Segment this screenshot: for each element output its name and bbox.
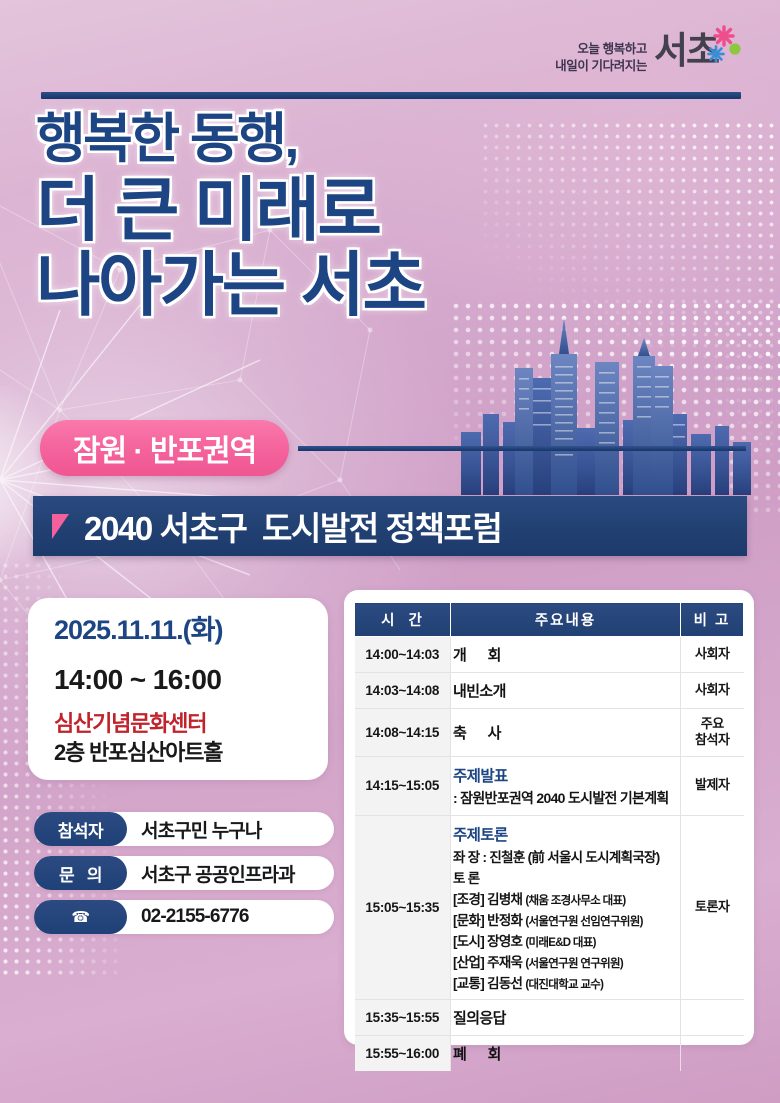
phone-icon: ☎ [34, 900, 127, 934]
row-content: 축 사 [451, 709, 681, 757]
table-row: 15:05~15:35 주제토론 좌 장 : 진철훈 (前 서울시 도시계획국장… [355, 815, 744, 999]
row-content-title: 주제발표 [453, 764, 678, 786]
panelist-name: 장영호 [487, 934, 522, 949]
contact-row-attendees: 참석자 서초구민 누구나 [34, 812, 334, 846]
schedule-card: 시 간 주요내용 비 고 14:00~14:03 개 회 사회자 14:03~1… [344, 590, 754, 1045]
logo-slogan-line1: 오늘 행복하고 [555, 41, 647, 58]
panelist-item: [도시] 장영호 (미래E&D 대표) [453, 930, 678, 950]
panelist-field: [산업] [453, 955, 484, 970]
row-content-text: 질의응답 [453, 1010, 506, 1027]
contact-row-inquiry: 문 의 서초구 공공인프라과 [34, 856, 334, 890]
table-row: 15:35~15:55 질의응답 [355, 999, 744, 1035]
seocho-logo: 오늘 행복하고 내일이 기다려지는 서초 [555, 26, 744, 78]
table-row: 14:08~14:15 축 사 주요 참석자 [355, 709, 744, 757]
logo-wordmark: 서초 [654, 26, 744, 76]
panelist-name: 김동선 [487, 976, 522, 991]
row-note: 주요 참석자 [681, 709, 744, 757]
row-content: 폐 회 [451, 1035, 681, 1071]
row-content-debate-label: 토 론 [453, 867, 678, 887]
poster-root: 오늘 행복하고 내일이 기다려지는 서초 행복한 [0, 0, 780, 1103]
col-header-content: 주요내용 [451, 603, 681, 637]
triangle-marker-icon [52, 514, 69, 539]
region-badge-label: 잠원 · 반포권역 [73, 426, 256, 470]
contact-value-phone[interactable]: 02-2155-6776 [127, 906, 249, 928]
row-time: 15:35~15:55 [355, 999, 451, 1035]
panelist-field: [조경] [453, 892, 484, 907]
halftone-dots-skyline [450, 300, 780, 520]
panelist-name: 주재욱 [487, 955, 522, 970]
skyline-svg [455, 310, 765, 495]
event-hall: 2층 반포심산아트홀 [54, 740, 328, 765]
panelist-affiliation: (서울연구원 연구위원) [525, 958, 623, 970]
panelist-field: [교통] [453, 976, 484, 991]
row-content-text: 폐 회 [453, 1046, 501, 1063]
table-row: 14:15~15:05 주제발표 : 잠원반포권역 2040 도시발전 기본계획… [355, 756, 744, 815]
row-time: 15:05~15:35 [355, 815, 451, 999]
event-time: 14:00 ~ 16:00 [54, 665, 328, 696]
panelist-item: [교통] 김동선 (대진대학교 교수) [453, 972, 678, 992]
panelist-affiliation: (채움 조경사무소 대표) [525, 895, 625, 907]
row-time: 14:03~14:08 [355, 673, 451, 709]
row-time: 14:00~14:03 [355, 637, 451, 673]
event-date: 2025.11.11.(화) [54, 616, 328, 646]
schedule-table-head: 시 간 주요내용 비 고 [355, 603, 744, 637]
contact-list: 참석자 서초구민 누구나 문 의 서초구 공공인프라과 ☎ 02-2155-67… [34, 812, 334, 944]
row-content: 질의응답 [451, 999, 681, 1035]
table-row: 15:55~16:00 폐 회 [355, 1035, 744, 1071]
city-skyline-illustration [455, 310, 765, 495]
panelist-field: [도시] [453, 934, 484, 949]
table-row: 14:03~14:08 내빈소개 사회자 [355, 673, 744, 709]
row-content: 주제토론 좌 장 : 진철훈 (前 서울시 도시계획국장) 토 론 [조경] 김… [451, 815, 681, 999]
panelist-name: 김병채 [487, 892, 522, 907]
headline-line-2: 더 큰 미래로 [36, 175, 556, 245]
table-row: 14:00~14:03 개 회 사회자 [355, 637, 744, 673]
panelist-affiliation: (서울연구원 선임연구위원) [525, 916, 642, 928]
panelist-item: [조경] 김병채 (채움 조경사무소 대표) [453, 888, 678, 908]
panelist-item: [산업] 주재욱 (서울연구원 연구위원) [453, 951, 678, 971]
region-badge-rule [298, 446, 746, 451]
row-content-title: 주제토론 [453, 823, 678, 845]
row-content-chair: 좌 장 : 진철훈 (前 서울시 도시계획국장) [453, 846, 678, 866]
row-content-text: 축 사 [453, 725, 501, 742]
schedule-header-row: 시 간 주요내용 비 고 [355, 603, 744, 637]
col-header-time: 시 간 [355, 603, 451, 637]
row-note: 사회자 [681, 637, 744, 673]
row-content: 내빈소개 [451, 673, 681, 709]
headline-line-3: 나아가는 서초 [36, 250, 556, 320]
contact-key-attendees: 참석자 [34, 812, 127, 846]
row-note: 토론자 [681, 815, 744, 999]
panelist-affiliation: (미래E&D 대표) [525, 937, 595, 949]
row-content: 개 회 [451, 637, 681, 673]
contact-value-inquiry: 서초구 공공인프라과 [127, 860, 295, 887]
event-venue: 심산기념문화센터 [54, 711, 328, 736]
row-note [681, 1035, 744, 1071]
header-divider-rule [41, 92, 741, 99]
row-note: 사회자 [681, 673, 744, 709]
forum-title-banner: 2040 서초구 도시발전 정책포럼 [33, 496, 747, 556]
schedule-table: 시 간 주요내용 비 고 14:00~14:03 개 회 사회자 14:03~1… [354, 602, 744, 1071]
col-header-note: 비 고 [681, 603, 744, 637]
row-content-subtitle: : 잠원반포권역 2040 도시발전 기본계획 [453, 788, 678, 808]
row-time: 15:55~16:00 [355, 1035, 451, 1071]
region-badge: 잠원 · 반포권역 [40, 420, 289, 476]
forum-title: 2040 서초구 도시발전 정책포럼 [84, 502, 501, 550]
contact-value-attendees: 서초구민 누구나 [127, 816, 261, 843]
row-note [681, 999, 744, 1035]
panelist-item: [문화] 반정화 (서울연구원 선임연구위원) [453, 909, 678, 929]
row-note: 발제자 [681, 756, 744, 815]
headline-line-1: 행복한 동행, [36, 112, 556, 166]
row-time: 14:15~15:05 [355, 756, 451, 815]
row-time: 14:08~14:15 [355, 709, 451, 757]
logo-slogan-line2: 내일이 기다려지는 [555, 58, 647, 75]
row-content: 주제발표 : 잠원반포권역 2040 도시발전 기본계획 [451, 756, 681, 815]
contact-key-inquiry: 문 의 [34, 856, 127, 890]
panelist-field: [문화] [453, 913, 484, 928]
poster-headline: 행복한 동행, 더 큰 미래로 나아가는 서초 [36, 112, 556, 320]
logo-mark: 서초 [654, 26, 744, 78]
panelist-name: 반정화 [487, 913, 522, 928]
chair-text: 좌 장 : 진철훈 (前 서울시 도시계획국장) [453, 850, 660, 865]
panelist-affiliation: (대진대학교 교수) [525, 979, 603, 991]
row-content-text: 내빈소개 [453, 683, 506, 700]
row-content-text: 개 회 [453, 647, 501, 664]
contact-row-phone[interactable]: ☎ 02-2155-6776 [34, 900, 334, 934]
logo-slogan: 오늘 행복하고 내일이 기다려지는 [555, 41, 647, 78]
schedule-table-body: 14:00~14:03 개 회 사회자 14:03~14:08 내빈소개 사회자… [355, 637, 744, 1071]
event-info-card: 2025.11.11.(화) 14:00 ~ 16:00 심산기념문화센터 2층… [28, 598, 328, 780]
